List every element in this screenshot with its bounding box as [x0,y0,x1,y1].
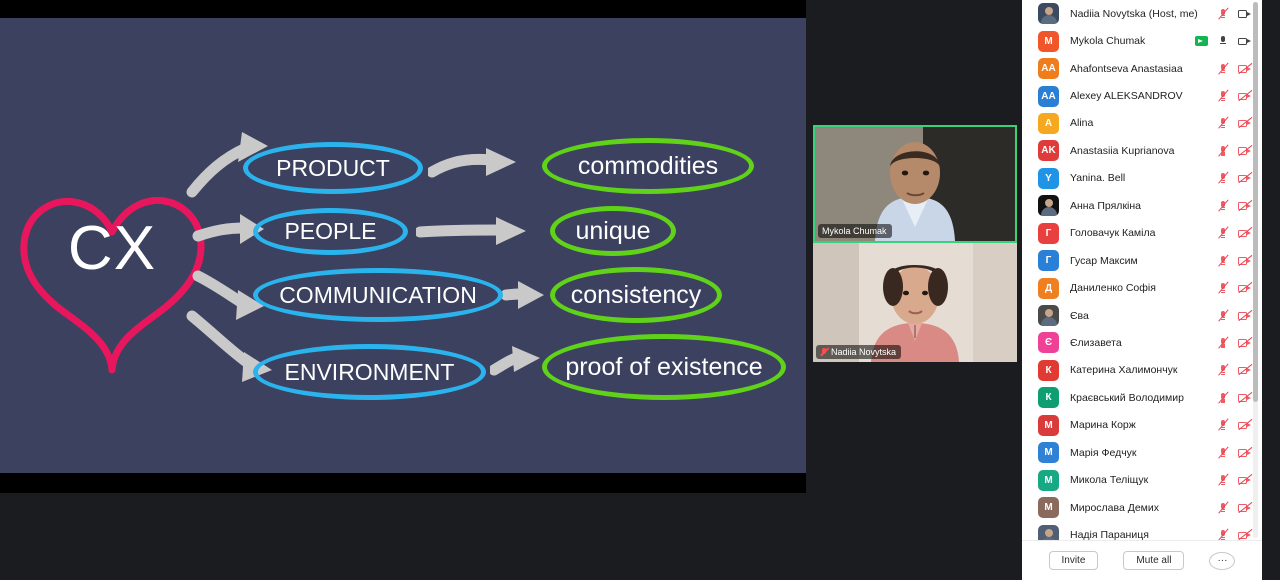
cx-center-label: CX [14,213,210,284]
mic-muted-icon[interactable] [1217,117,1229,129]
mic-muted-icon[interactable] [1217,310,1229,322]
mic-muted-icon[interactable] [1217,227,1229,239]
mic-muted-icon[interactable] [1217,364,1229,376]
participant-status-icons [1217,63,1252,75]
window-right-edge [1262,0,1280,580]
outcome-pill-consistency: consistency [550,267,722,323]
arrow-communication-to-consistency [502,276,554,314]
driver-pill-product: PRODUCT [243,142,423,194]
outcome-label-commodities: commodities [578,152,718,181]
participants-panel: Nadiia Novytska (Host, me)MMykola Chumak… [1022,0,1262,580]
shared-screen-stage[interactable]: CX [0,0,806,580]
participant-name: Мирослава Демих [1070,502,1217,514]
participant-status-icons [1217,227,1252,239]
stage-background-filler [0,493,806,580]
camera-off-icon[interactable] [1238,63,1252,75]
avatar [1038,525,1059,540]
participant-name: Alexey ALEKSANDROV [1070,90,1217,102]
participants-scrollbar[interactable] [1253,2,1258,538]
participant-row[interactable]: Анна Прялкіна [1022,192,1262,219]
participants-footer: Invite Mute all ··· [1022,540,1262,580]
driver-pill-communication: COMMUNICATION [253,268,503,322]
outcome-label-unique: unique [575,217,650,246]
mic-muted-icon[interactable] [1217,8,1229,20]
participant-name: Nadiia Novytska (Host, me) [1070,8,1217,20]
mic-muted-icon[interactable] [1217,447,1229,459]
driver-label-people: PEOPLE [284,218,376,245]
participant-name: Катерина Халимончук [1070,364,1217,376]
camera-off-icon[interactable] [1238,474,1252,486]
participant-status-icons [1217,474,1252,486]
participant-name: Надія Параниця [1070,529,1217,540]
participant-name: Anastasiia Kuprianova [1070,145,1217,157]
participant-row[interactable]: ГГусар Максим [1022,247,1262,274]
participant-name: Марина Корж [1070,419,1217,431]
avatar: AA [1038,58,1059,79]
camera-off-icon[interactable] [1238,145,1252,157]
avatar: М [1038,415,1059,436]
camera-off-icon[interactable] [1238,502,1252,514]
avatar: Y [1038,168,1059,189]
outcome-pill-proof-of-existence: proof of existence [542,334,786,400]
participant-row[interactable]: ММарія Федчук [1022,439,1262,466]
driver-label-communication: COMMUNICATION [279,282,477,309]
outcome-label-consistency: consistency [571,281,702,310]
participant-row[interactable]: ККатерина Халимончук [1022,357,1262,384]
avatar: Д [1038,278,1059,299]
mic-muted-icon[interactable] [1217,502,1229,514]
participant-row[interactable]: AAAlexey ALEKSANDROV [1022,82,1262,109]
avatar: Г [1038,223,1059,244]
camera-off-icon[interactable] [1238,392,1252,404]
participant-row[interactable]: Nadiia Novytska (Host, me) [1022,0,1262,27]
participant-name: Єлизавета [1070,337,1217,349]
camera-off-icon[interactable] [1238,117,1252,129]
camera-off-icon[interactable] [1238,419,1252,431]
participant-status-icons [1217,90,1252,102]
mic-on-icon[interactable] [1217,35,1229,47]
participant-row[interactable]: ЄЄлизавета [1022,329,1262,356]
mic-muted-icon[interactable] [1217,474,1229,486]
participant-status-icons [1217,392,1252,404]
camera-off-icon[interactable] [1238,282,1252,294]
participant-row[interactable]: AAlina [1022,110,1262,137]
shared-slide: CX [0,18,806,473]
participant-status-icons [1217,419,1252,431]
avatar [1038,195,1059,216]
avatar: AA [1038,86,1059,107]
participant-name: Mykola Chumak [1070,35,1195,47]
participant-row[interactable]: YYanina. Bell [1022,165,1262,192]
participant-status-icons [1217,282,1252,294]
participant-name: Марія Федчук [1070,447,1217,459]
screen-share-icon [1195,36,1208,46]
video-tile-nadiia-novytska[interactable]: Nadiia Novytska [813,243,1017,362]
arrow-environment-to-proof [490,344,550,388]
mic-muted-icon[interactable] [1217,419,1229,431]
participant-name: Даниленко Софія [1070,282,1217,294]
driver-label-environment: ENVIRONMENT [285,359,455,386]
participant-name: Краєвський Володимир [1070,392,1217,404]
camera-off-icon[interactable] [1238,364,1252,376]
camera-off-icon[interactable] [1238,310,1252,322]
participant-row[interactable]: ДДаниленко Софія [1022,274,1262,301]
participant-status-icons [1217,364,1252,376]
mic-muted-icon[interactable] [1217,337,1229,349]
avatar: M [1038,31,1059,52]
participant-status-icons [1217,117,1252,129]
camera-off-icon[interactable] [1238,200,1252,212]
stage-letterbox-top [0,0,806,18]
participant-status-icons [1217,337,1252,349]
participant-status-icons [1217,145,1252,157]
camera-off-icon[interactable] [1238,337,1252,349]
more-options-button[interactable]: ··· [1209,552,1235,570]
outcome-pill-unique: unique [550,206,676,256]
participant-row[interactable]: ММирослава Демих [1022,494,1262,521]
avatar: М [1038,497,1059,518]
avatar [1038,3,1059,24]
participant-status-icons [1217,8,1252,20]
mic-muted-icon[interactable] [1217,529,1229,540]
participant-name: Головачук Каміла [1070,227,1217,239]
avatar: М [1038,442,1059,463]
participant-name: Єва [1070,310,1217,322]
mic-muted-icon[interactable] [1217,145,1229,157]
mute-all-button[interactable]: Mute all [1123,551,1184,570]
driver-label-product: PRODUCT [276,155,390,182]
arrow-product-to-commodities [428,146,540,192]
participant-status-icons [1217,200,1252,212]
video-tile-mykola-chumak[interactable]: Mykola Chumak [813,125,1017,243]
participants-scrollbar-thumb[interactable] [1253,2,1258,402]
participant-name: Анна Прялкіна [1070,200,1217,212]
participant-status-icons [1217,447,1252,459]
avatar [1038,305,1059,326]
video-tile-name-nadiia-novytska: Nadiia Novytska [816,345,901,359]
avatar: Г [1038,250,1059,271]
camera-off-icon[interactable] [1238,90,1252,102]
mic-muted-icon[interactable] [1217,90,1229,102]
driver-pill-environment: ENVIRONMENT [253,344,486,400]
mic-muted-icon[interactable] [1217,282,1229,294]
participants-list[interactable]: Nadiia Novytska (Host, me)MMykola Chumak… [1022,0,1262,540]
participant-name: Yanina. Bell [1070,172,1217,184]
participant-row[interactable]: ММарина Корж [1022,412,1262,439]
camera-off-icon[interactable] [1238,447,1252,459]
avatar: К [1038,360,1059,381]
camera-off-icon[interactable] [1238,529,1252,540]
camera-on-icon[interactable] [1238,8,1252,20]
participant-row[interactable]: Надія Параниця [1022,521,1262,540]
video-tile-strip: Mykola Chumak Nadiia Novyts [813,125,1017,362]
participant-row[interactable]: Єва [1022,302,1262,329]
participant-row[interactable]: ММикола Теліщук [1022,466,1262,493]
participant-name: Alina [1070,117,1217,129]
mic-muted-icon [820,348,828,356]
avatar: К [1038,387,1059,408]
participant-status-icons [1217,529,1252,540]
participant-status-icons [1217,255,1252,267]
camera-on-icon[interactable] [1238,35,1252,47]
camera-off-icon[interactable] [1238,255,1252,267]
participant-status-icons [1217,310,1252,322]
mic-muted-icon[interactable] [1217,255,1229,267]
participant-name: Ahafontseva Anastasiaa [1070,63,1217,75]
participant-row[interactable]: AAAhafontseva Anastasiaa [1022,55,1262,82]
invite-button[interactable]: Invite [1049,551,1099,570]
avatar: AK [1038,140,1059,161]
mic-muted-icon[interactable] [1217,392,1229,404]
arrow-people-to-unique [416,212,546,252]
mic-muted-icon[interactable] [1217,63,1229,75]
outcome-pill-commodities: commodities [542,138,754,194]
participant-name: Микола Теліщук [1070,474,1217,486]
participant-status-icons [1217,502,1252,514]
driver-pill-people: PEOPLE [253,208,408,255]
outcome-label-proof-of-existence: proof of existence [565,353,762,382]
participant-status-icons [1195,35,1252,47]
avatar: М [1038,470,1059,491]
camera-off-icon[interactable] [1238,227,1252,239]
participant-row[interactable]: AKAnastasiia Kuprianova [1022,137,1262,164]
participant-row[interactable]: ККраєвський Володимир [1022,384,1262,411]
mic-muted-icon[interactable] [1217,200,1229,212]
participant-status-icons [1217,172,1252,184]
avatar: A [1038,113,1059,134]
video-tile-name-mykola-chumak: Mykola Chumak [818,224,892,238]
avatar: Є [1038,332,1059,353]
participant-name: Гусар Максим [1070,255,1217,267]
camera-off-icon[interactable] [1238,172,1252,184]
stage-letterbox-bottom [0,473,806,493]
participant-row[interactable]: MMykola Chumak [1022,27,1262,54]
zoom-meeting-window: CX [0,0,1280,580]
mic-muted-icon[interactable] [1217,172,1229,184]
participant-row[interactable]: ГГоловачук Каміла [1022,220,1262,247]
